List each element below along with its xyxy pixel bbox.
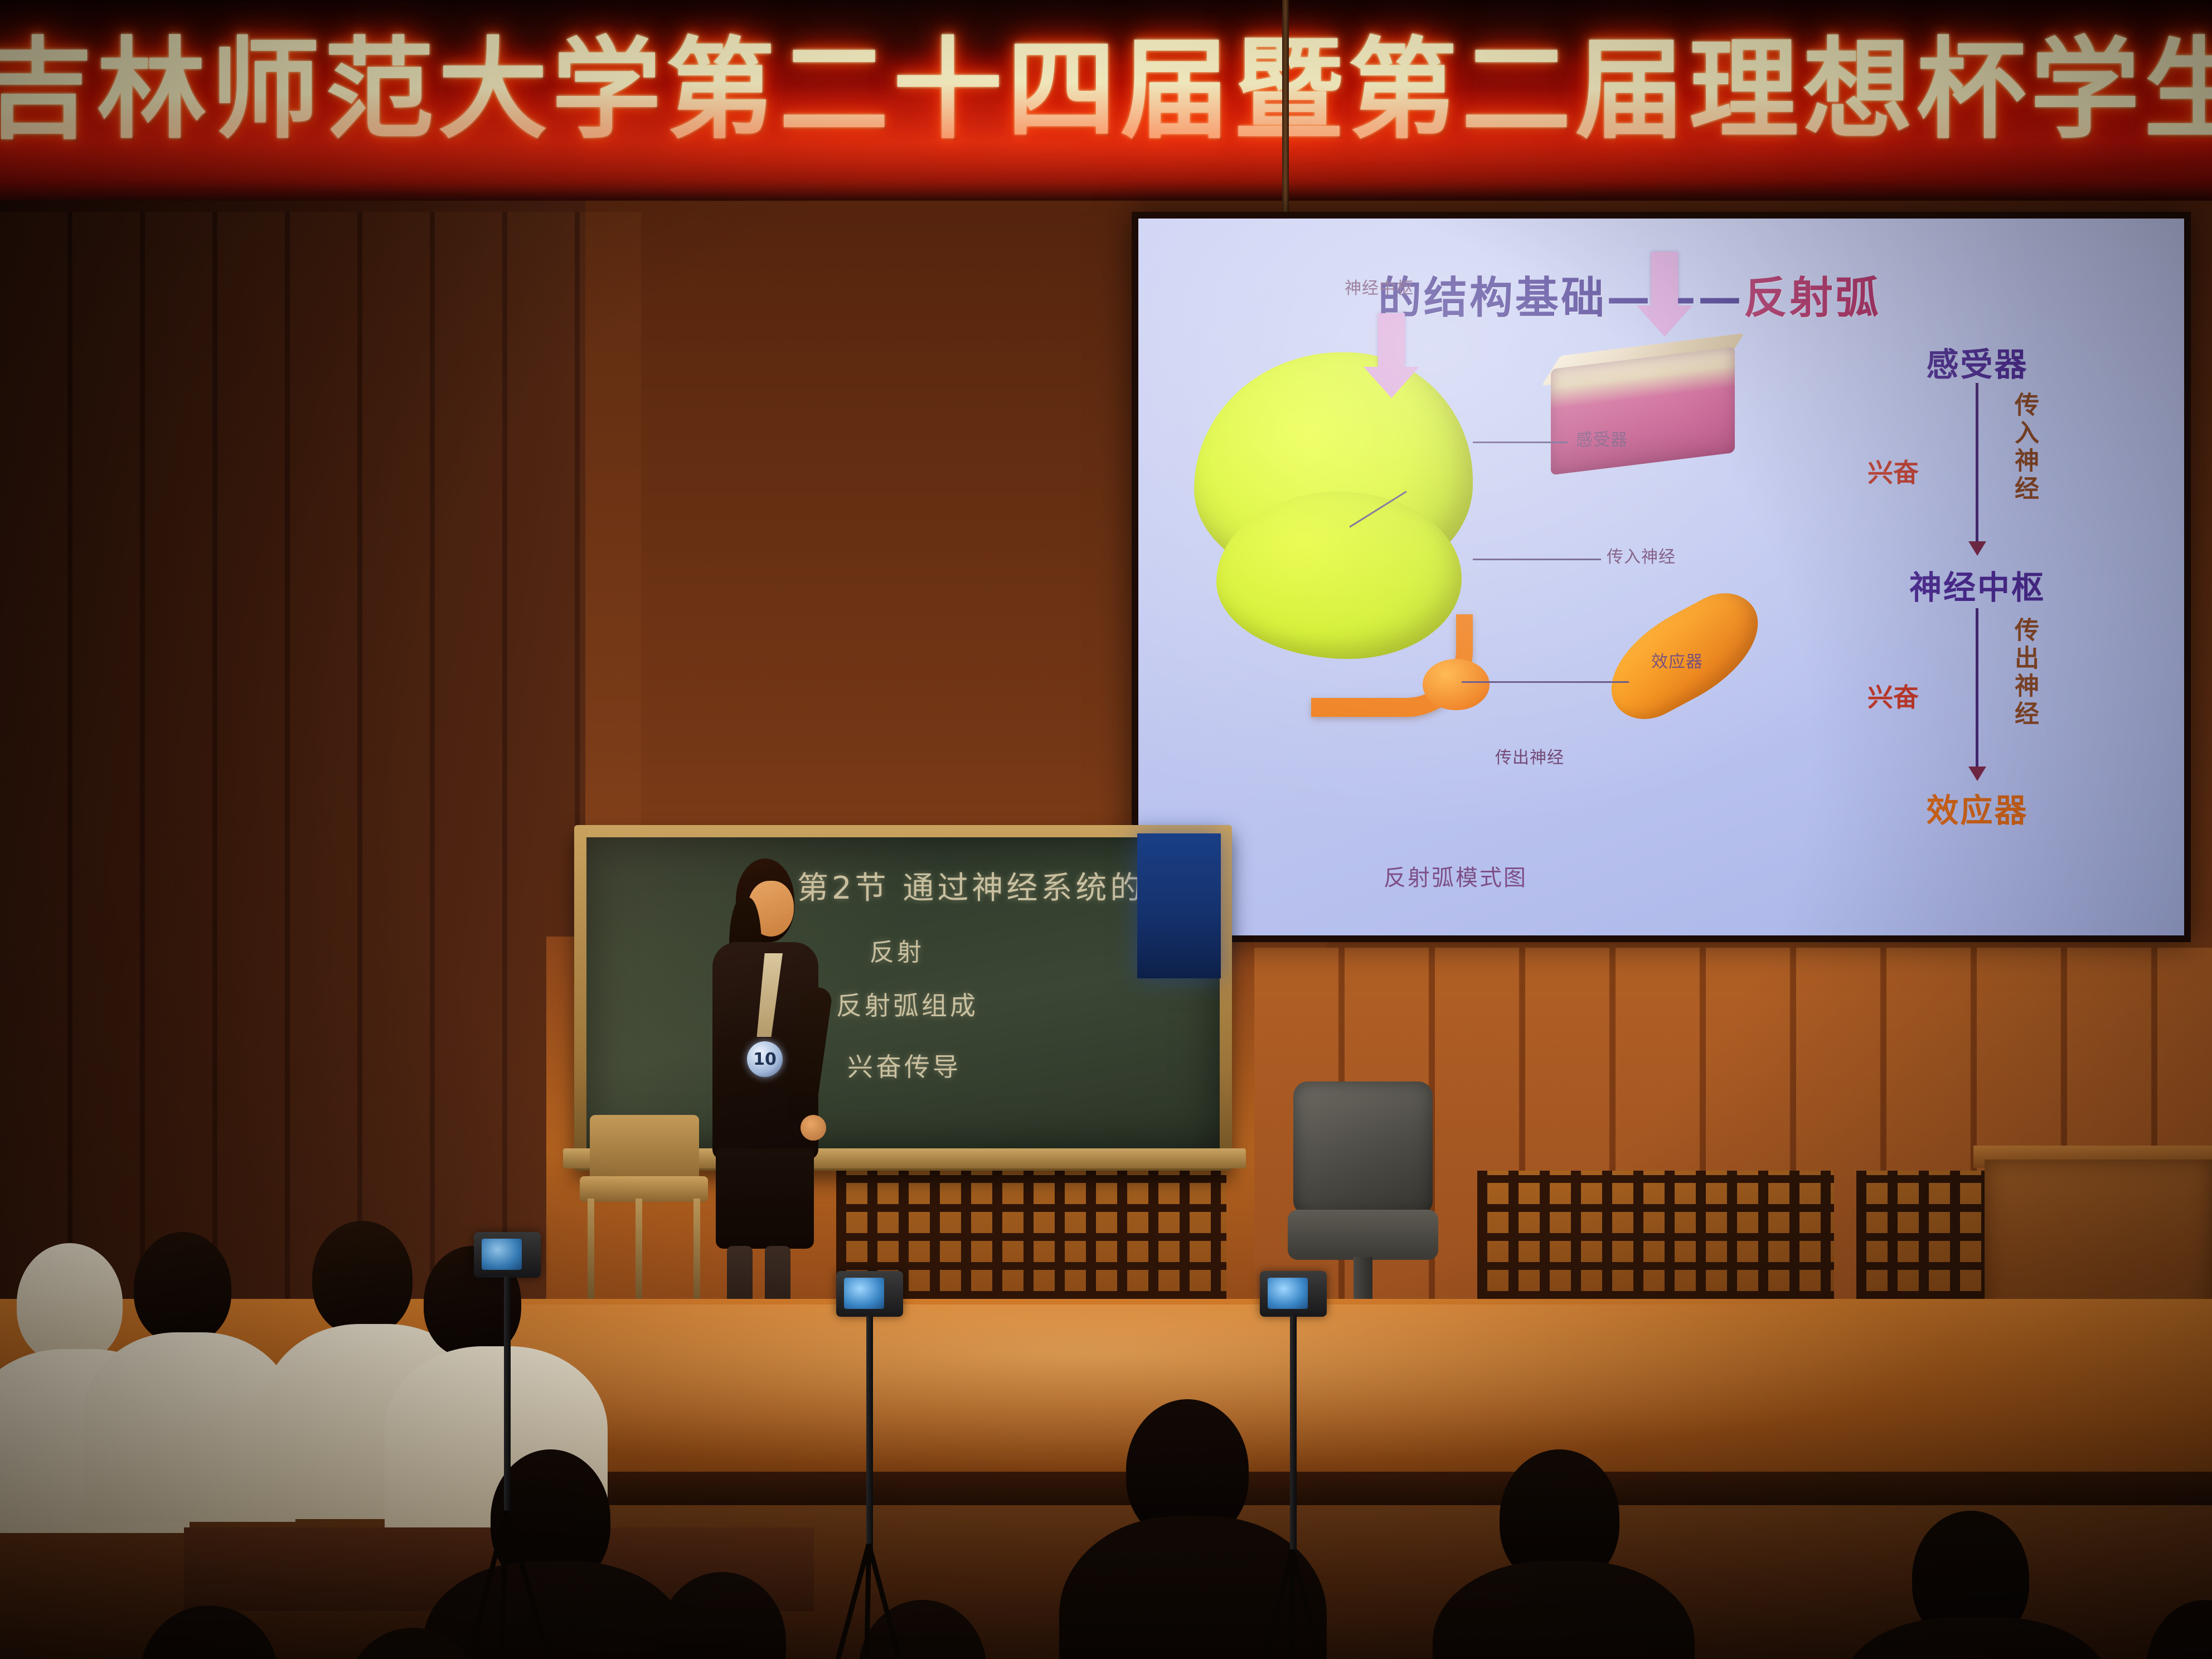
flow-node-effector: 效应器 (1857, 784, 2097, 831)
audience-head (134, 1232, 231, 1343)
reflex-arc-illustration: 神经中枢 感受器 传入神经 效应器 传出神经 反射弧模式图 (1161, 324, 1852, 904)
slide-title: 的结构基础———反射弧 (1378, 263, 1881, 326)
projection-screen: 的结构基础———反射弧 神经中枢 感受器 传入神经 效应器 传出神经 反 (1138, 219, 2184, 935)
camcorder-screen (1268, 1278, 1308, 1309)
stimulus-arrow-icon (1651, 252, 1678, 305)
stimulus-arrow-icon (1378, 313, 1405, 367)
reflex-arc-flowchart: 感受器 兴奋 传入神经 神经中枢 兴奋 传出神经 效应器 (1857, 338, 2158, 901)
folding-chair-back (590, 1115, 699, 1182)
tripod-leg (1290, 1550, 1295, 1659)
flow-arrow-2 (1976, 608, 1978, 770)
blackboard-line-2: 反射弧组成 (836, 986, 978, 1022)
audience-foreground (0, 1215, 2212, 1659)
presenter-badge-number: 10 (747, 1041, 783, 1077)
flow-label-excitation-2: 兴奋 (1867, 677, 1919, 714)
wood-panel-left (0, 212, 641, 1360)
diagram-label-effector: 效应器 (1651, 648, 1703, 672)
leader-line (1473, 442, 1568, 443)
camcorder-center[interactable] (836, 1271, 903, 1317)
camcorder-screen (844, 1278, 884, 1309)
audience-shoulders (1845, 1617, 2107, 1659)
folding-chair-seat (580, 1176, 708, 1202)
office-chair-back (1293, 1081, 1433, 1215)
audience-shoulders (1059, 1516, 1327, 1659)
audience-shoulders (1433, 1561, 1695, 1659)
blue-display-panel (1137, 833, 1221, 978)
flow-label-excitation-1: 兴奋 (1867, 453, 1919, 489)
presenter-number-badge: 10 (747, 1041, 783, 1077)
skin-block (1551, 347, 1735, 476)
blackboard-line-3: 兴奋传导 (847, 1047, 961, 1084)
camcorder-right[interactable] (1260, 1271, 1327, 1317)
diagram-label-receptor: 感受器 (1576, 426, 1628, 450)
presenter-hand (801, 1115, 826, 1141)
flow-node-receptor: 感受器 (1857, 338, 2097, 385)
audience-head (2146, 1600, 2212, 1659)
diagram-label-efferent-nerve: 传出神经 (1495, 744, 1564, 768)
tripod-column (1290, 1316, 1297, 1555)
slide-title-highlight: 反射弧 (1744, 273, 1881, 323)
blackboard-line-1: 反射 (870, 932, 924, 968)
audience-head (139, 1605, 279, 1659)
flow-node-nerve-center: 神经中枢 (1857, 561, 2097, 608)
leader-line (1462, 681, 1629, 683)
flow-label-afferent-nerve: 传入神经 (2007, 392, 2037, 503)
tripod-column (504, 1277, 511, 1516)
audience-head (312, 1221, 413, 1335)
auditorium-scene: 吉林师范大学第二十四届暨第二届理想杯学生 的结构基础———反射弧 (0, 0, 2212, 1659)
camcorder-left[interactable] (474, 1232, 541, 1278)
banner-text: 吉林师范大学第二十四届暨第二届理想杯学生 (0, 36, 2212, 145)
diagram-label-afferent-nerve: 传入神经 (1607, 543, 1676, 567)
audience-head (858, 1600, 987, 1659)
flow-label-efferent-nerve: 传出神经 (2007, 617, 2037, 729)
diagram-caption: 反射弧模式图 (1384, 860, 1527, 892)
camcorder-screen (482, 1239, 522, 1270)
spinal-cord-end (1423, 659, 1490, 710)
tripod-column (866, 1316, 873, 1550)
leader-line (1473, 559, 1601, 560)
flow-arrow-1 (1976, 383, 1978, 545)
projector-mount-pole (1282, 0, 1289, 234)
audience-head (17, 1243, 123, 1363)
diagram-label-nerve-center: 神经中枢 (1345, 274, 1414, 299)
event-banner: 吉林师范大学第二十四届暨第二届理想杯学生 (0, 0, 2212, 201)
